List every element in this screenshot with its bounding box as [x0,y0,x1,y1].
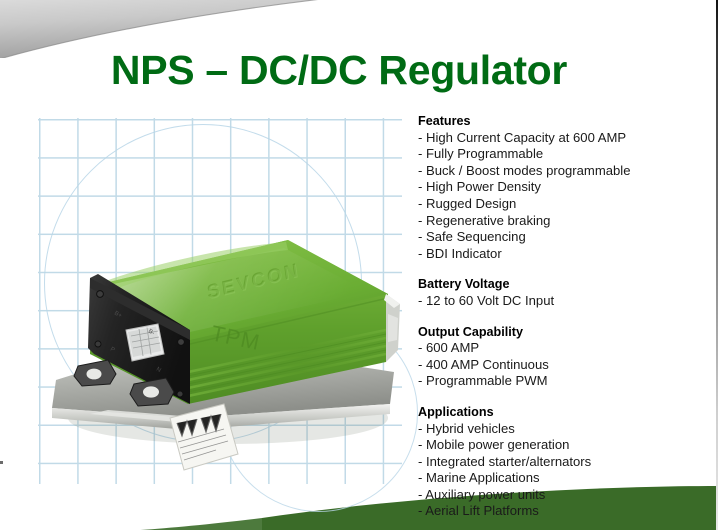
feature-item: - Safe Sequencing [418,229,700,246]
application-item: - Marine Applications [418,470,700,487]
feature-item: - High Current Capacity at 600 AMP [418,130,700,147]
application-item: - Integrated starter/alternators [418,454,700,471]
section-heading: Applications [418,404,700,421]
feature-item: - High Power Density [418,179,700,196]
product-pin-connector [126,324,164,361]
output-capability-item: - 600 AMP [418,340,700,357]
section-features: Features - High Current Capacity at 600 … [418,113,700,262]
output-capability-item: - 400 AMP Continuous [418,357,700,374]
product-right-end [384,294,400,362]
section-heading: Output Capability [418,324,700,341]
product-image-panel: SEVCON SEVCON TPM [38,118,402,484]
feature-item: - Rugged Design [418,196,700,213]
application-item: - Mobile power generation [418,437,700,454]
feature-item: - Buck / Boost modes programmable [418,163,700,180]
battery-voltage-item: - 12 to 60 Volt DC Input [418,293,700,310]
output-capability-item: - Programmable PWM [418,373,700,390]
section-output-capability: Output Capability - 600 AMP - 400 AMP Co… [418,324,700,390]
dc-dc-regulator-photo: SEVCON SEVCON TPM [38,118,402,484]
specifications-column: Features - High Current Capacity at 600 … [418,113,700,520]
feature-item: - Fully Programmable [418,146,700,163]
section-battery-voltage: Battery Voltage - 12 to 60 Volt DC Input [418,276,700,309]
feature-item: - Regenerative braking [418,213,700,230]
section-heading: Battery Voltage [418,276,700,293]
application-item: - Auxiliary power units [418,487,700,504]
section-applications: Applications - Hybrid vehicles - Mobile … [418,404,700,520]
application-item: - Hybrid vehicles [418,421,700,438]
feature-item: - BDI Indicator [418,246,700,263]
slide-canvas: NPS – DC/DC Regulator [0,0,718,530]
page-title: NPS – DC/DC Regulator [0,47,678,94]
section-heading: Features [418,113,700,130]
application-item: - Aerial Lift Platforms [418,503,700,520]
slide-left-edge-tick [0,461,3,464]
